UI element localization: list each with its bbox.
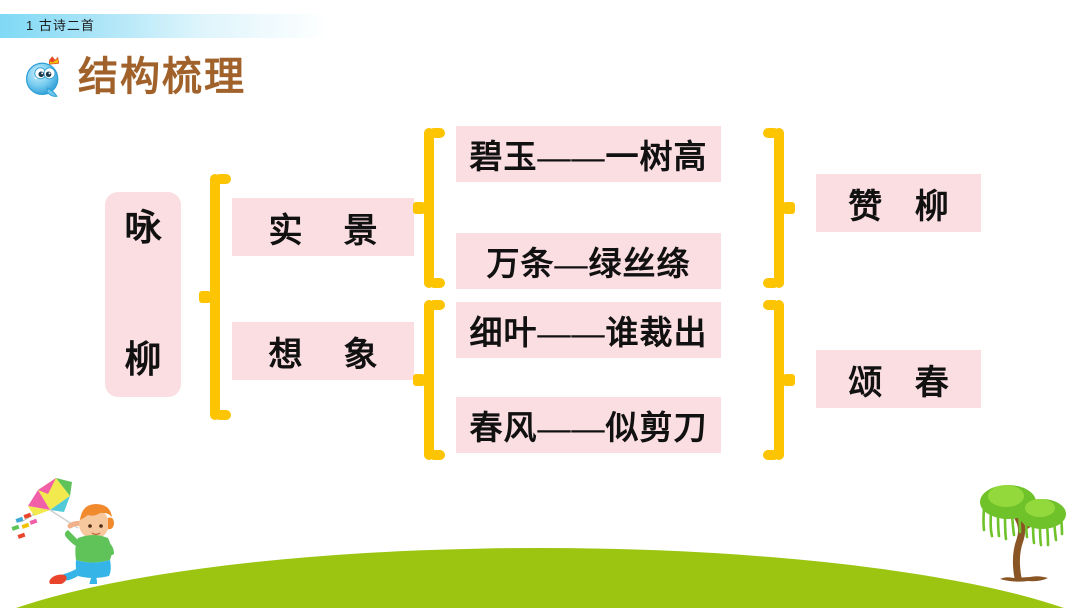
conclusion-box-1: 赞 柳: [816, 174, 981, 232]
conclusion-2-text: 颂 春: [816, 355, 981, 404]
boy-flying-kite-illustration: [8, 472, 140, 584]
conclusion-2-char-2: 春: [915, 355, 949, 404]
brace-arm-top: [429, 300, 445, 310]
poem-line-4-text: 春风——似剪刀: [470, 401, 708, 449]
branch-label-2-text: 想 象: [232, 327, 414, 376]
conclusion-1-char-2: 柳: [915, 179, 949, 228]
conclusion-box-2: 颂 春: [816, 350, 981, 408]
branch-label-1-text: 实 景: [232, 203, 414, 252]
branch-label-box-1: 实 景: [232, 198, 414, 256]
brace-arm-bottom: [763, 450, 779, 460]
brace-nub: [413, 202, 425, 214]
poem-line-2-text: 万条—绿丝绦: [487, 237, 691, 285]
brace-stem: [210, 174, 220, 420]
lesson-label: 1 古诗二首: [26, 16, 326, 36]
poem-line-box-1: 碧玉——一树高: [456, 126, 721, 182]
brace-nub: [413, 374, 425, 386]
root-box: 咏 柳: [105, 192, 181, 397]
brace-arm-bottom: [429, 450, 445, 460]
slide-canvas: 1 古诗二首: [0, 0, 1080, 608]
root-box-text: 咏 柳: [125, 210, 162, 378]
green-ground: [0, 548, 1080, 608]
brace-nub: [783, 374, 795, 386]
poem-line-3-text: 细叶——谁裁出: [470, 306, 708, 354]
branch-2-char-2: 象: [344, 327, 378, 376]
poem-line-box-2: 万条—绿丝绦: [456, 233, 721, 289]
brace-branch-2-to-items: [412, 300, 446, 460]
conclusion-1-char-1: 赞: [848, 179, 882, 228]
conclusion-2-char-1: 颂: [848, 355, 882, 404]
brace-items-to-conclusion-1: [762, 128, 796, 288]
root-char-2: 柳: [125, 342, 162, 379]
page-title: 结构梳理: [78, 55, 246, 99]
branch-1-char-1: 实: [269, 203, 303, 252]
poem-line-1-text: 碧玉——一树高: [470, 130, 708, 178]
brace-nub: [199, 291, 211, 303]
section-title-row: 结构梳理: [22, 52, 246, 102]
brace-nub: [783, 202, 795, 214]
brace-arm-bottom: [763, 278, 779, 288]
brace-arm-bottom: [429, 278, 445, 288]
brace-arm-top: [429, 128, 445, 138]
brace-stem: [424, 300, 434, 460]
branch-1-char-2: 景: [344, 203, 378, 252]
brace-arm-top: [763, 300, 779, 310]
root-char-1: 咏: [125, 210, 162, 247]
brace-root-to-branches: [198, 174, 232, 420]
willow-tree-illustration: [966, 470, 1076, 582]
brace-arm-top: [215, 174, 231, 184]
brace-arm-bottom: [215, 410, 231, 420]
poem-line-box-3: 细叶——谁裁出: [456, 302, 721, 358]
branch-2-char-1: 想: [269, 327, 303, 376]
q-mascot-icon: [22, 55, 66, 99]
brace-items-to-conclusion-2: [762, 300, 796, 460]
conclusion-1-text: 赞 柳: [816, 179, 981, 228]
poem-line-box-4: 春风——似剪刀: [456, 397, 721, 453]
brace-branch-1-to-items: [412, 128, 446, 288]
brace-arm-top: [763, 128, 779, 138]
branch-label-box-2: 想 象: [232, 322, 414, 380]
brace-stem: [424, 128, 434, 288]
